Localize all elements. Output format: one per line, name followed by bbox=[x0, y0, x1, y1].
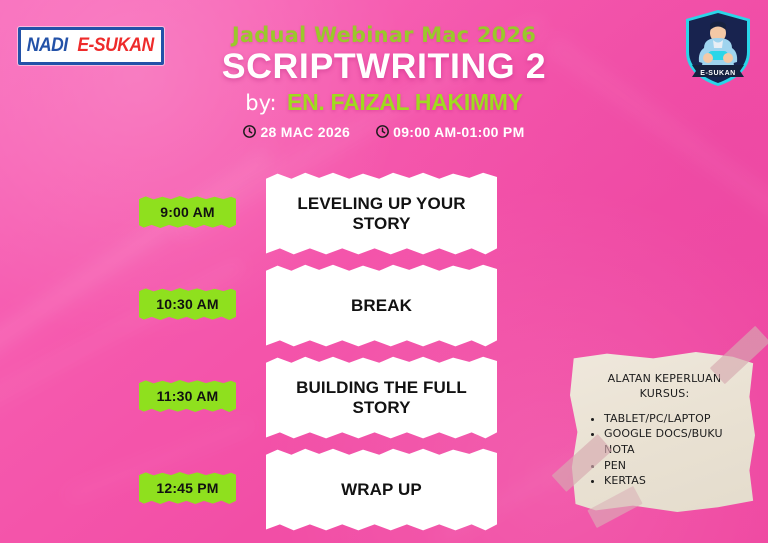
materials-note-card: ALATAN KEPERLUAN KURSUS: TABLET/PC/LAPTO… bbox=[570, 352, 755, 512]
schedule-time-badge: 9:00 AM bbox=[139, 195, 236, 229]
materials-list-item: GOOGLE DOCS/BUKU NOTA bbox=[604, 426, 741, 457]
materials-list-item: KERTAS bbox=[604, 473, 741, 489]
materials-note-title: ALATAN KEPERLUAN KURSUS: bbox=[588, 372, 741, 402]
event-time: 09:00 AM-01:00 PM bbox=[376, 124, 524, 140]
event-meta: 28 MAC 2026 09:00 AM-01:00 PM bbox=[0, 124, 768, 140]
schedule-time-badge: 10:30 AM bbox=[139, 287, 236, 321]
page-title: SCRIPTWRITING 2 bbox=[0, 48, 768, 87]
event-date: 28 MAC 2026 bbox=[243, 124, 350, 140]
poster-header: Jadual Webinar Mac 2026 SCRIPTWRITING 2 … bbox=[0, 24, 768, 140]
header-kicker: Jadual Webinar Mac 2026 bbox=[0, 24, 768, 46]
byline-label: by: bbox=[245, 91, 276, 115]
schedule-time-badge: 12:45 PM bbox=[139, 471, 236, 505]
schedule-row: 10:30 AM BREAK bbox=[0, 260, 768, 352]
speaker-byline: by: EN. FAIZAL HAKIMMY bbox=[0, 90, 768, 115]
schedule-time-badge: 11:30 AM bbox=[139, 379, 236, 413]
webinar-schedule-poster: NADI E-SUKAN E-SUKAN Jadual We bbox=[0, 0, 768, 543]
event-date-text: 28 MAC 2026 bbox=[260, 124, 350, 140]
schedule-row: 9:00 AM LEVELING UP YOUR STORY bbox=[0, 168, 768, 260]
schedule-session-card: WRAP UP bbox=[266, 447, 497, 533]
schedule-session-card: BREAK bbox=[266, 263, 497, 349]
materials-list-item: TABLET/PC/LAPTOP bbox=[604, 411, 741, 427]
clock-icon bbox=[376, 125, 389, 138]
schedule-session-card: LEVELING UP YOUR STORY bbox=[266, 171, 497, 257]
event-time-text: 09:00 AM-01:00 PM bbox=[393, 124, 524, 140]
materials-list-item: PEN bbox=[604, 458, 741, 474]
materials-list: TABLET/PC/LAPTOP GOOGLE DOCS/BUKU NOTA P… bbox=[588, 411, 741, 489]
schedule-session-card: BUILDING THE FULL STORY bbox=[266, 355, 497, 441]
speaker-name: EN. FAIZAL HAKIMMY bbox=[287, 89, 523, 115]
clock-icon bbox=[243, 125, 256, 138]
